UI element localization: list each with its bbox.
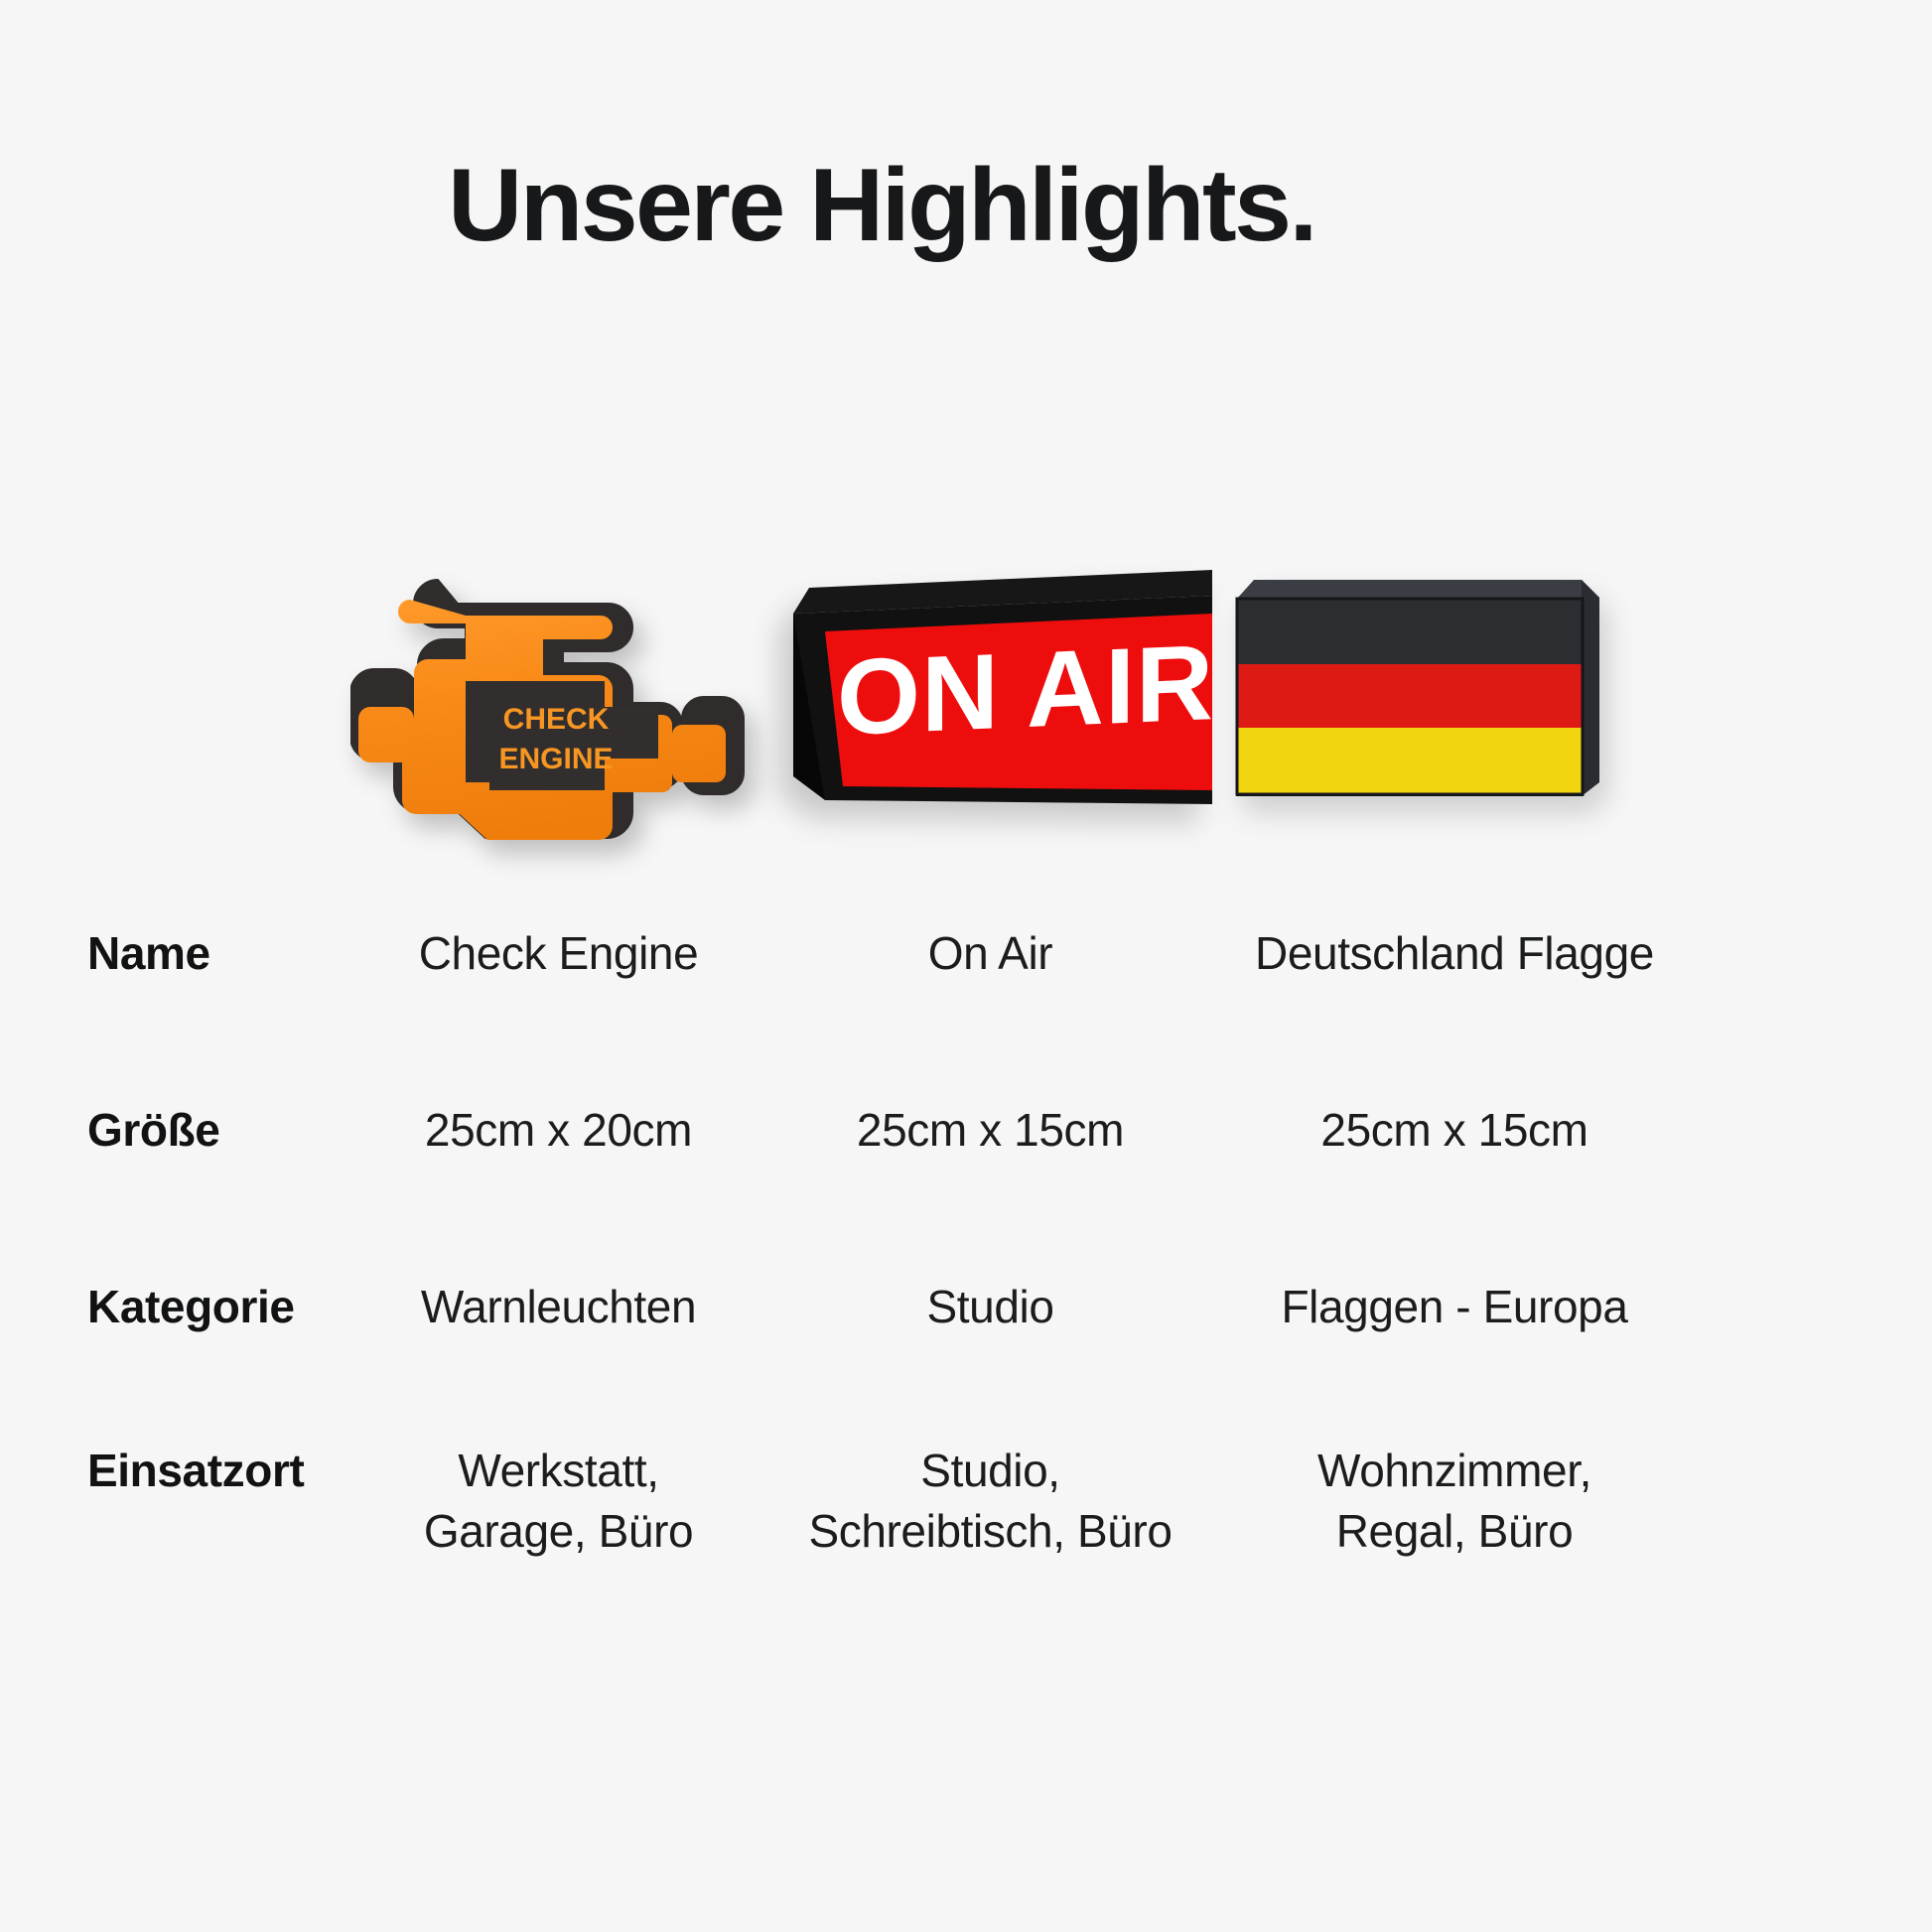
cell-groesse-deutschland-flagge: 25cm x 15cm bbox=[1206, 1100, 1703, 1161]
on-air-svg: ON AIR bbox=[785, 566, 1212, 824]
check-engine-label-line2: ENGINE bbox=[498, 743, 613, 775]
check-engine-label-line1: CHECK bbox=[503, 703, 610, 736]
cell-groesse-check-engine: 25cm x 20cm bbox=[343, 1100, 774, 1161]
cell-einsatzort-on-air: Studio, Schreibtisch, Büro bbox=[774, 1441, 1206, 1561]
row-label-einsatzort: Einsatzort bbox=[0, 1441, 343, 1501]
german-flag-lightbox-icon bbox=[1228, 568, 1650, 816]
cell-einsatzort-check-engine: Werkstatt, Garage, Büro bbox=[343, 1441, 774, 1561]
row-label-groesse: Größe bbox=[0, 1100, 343, 1161]
cell-name-on-air: On Air bbox=[774, 923, 1206, 984]
cell-einsatzort-deutschland-flagge: Wohnzimmer, Regal, Büro bbox=[1206, 1441, 1703, 1561]
cell-groesse-on-air: 25cm x 15cm bbox=[774, 1100, 1206, 1161]
cell-kategorie-check-engine: Warnleuchten bbox=[343, 1277, 774, 1337]
on-air-label: ON AIR bbox=[837, 621, 1212, 758]
cell-name-check-engine: Check Engine bbox=[343, 923, 774, 984]
german-flag-svg bbox=[1228, 568, 1650, 816]
cell-kategorie-on-air: Studio bbox=[774, 1277, 1206, 1337]
product-image-check-engine: CHECK ENGINE bbox=[343, 536, 774, 864]
table-row: Größe 25cm x 20cm 25cm x 15cm 25cm x 15c… bbox=[0, 1100, 1932, 1277]
product-image-deutschland-flagge bbox=[1216, 536, 1713, 864]
spec-table: Name Check Engine On Air Deutschland Fla… bbox=[0, 923, 1932, 1639]
product-highlights-page: Unsere Highlights. bbox=[0, 0, 1932, 1932]
check-engine-lightbox-icon: CHECK ENGINE bbox=[350, 546, 767, 844]
check-engine-svg: CHECK ENGINE bbox=[350, 546, 767, 844]
table-row: Name Check Engine On Air Deutschland Fla… bbox=[0, 923, 1932, 1100]
product-image-on-air: ON AIR bbox=[779, 536, 1211, 864]
cell-name-deutschland-flagge: Deutschland Flagge bbox=[1206, 923, 1703, 984]
on-air-lightbox-icon: ON AIR bbox=[785, 566, 1212, 824]
row-label-name: Name bbox=[0, 923, 343, 984]
product-image-row: CHECK ENGINE ON AIR bbox=[0, 536, 1932, 864]
row-label-kategorie: Kategorie bbox=[0, 1277, 343, 1337]
cell-kategorie-deutschland-flagge: Flaggen - Europa bbox=[1206, 1277, 1703, 1337]
page-title: Unsere Highlights. bbox=[0, 149, 1932, 262]
table-row: Kategorie Warnleuchten Studio Flaggen - … bbox=[0, 1277, 1932, 1441]
table-row: Einsatzort Werkstatt, Garage, Büro Studi… bbox=[0, 1441, 1932, 1639]
